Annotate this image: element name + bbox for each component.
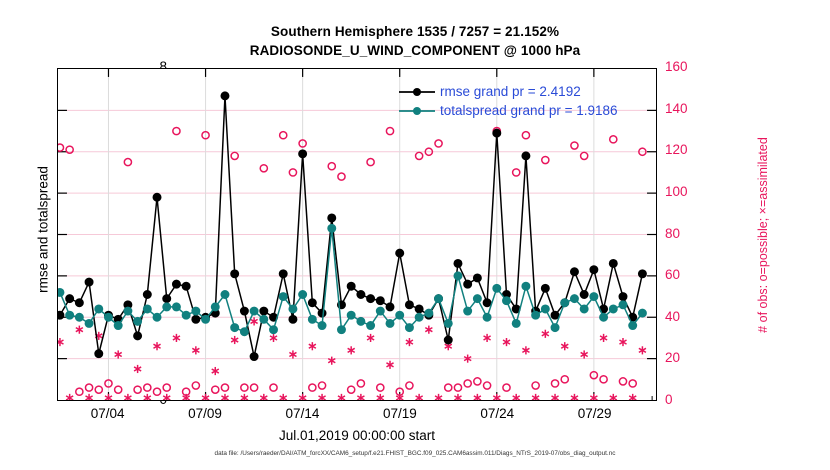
- y-tick-right-80: 80: [665, 227, 711, 241]
- page-title-line2: RADIOSONDE_U_WIND_COMPONENT @ 1000 hPa: [0, 43, 830, 58]
- legend: rmse grand pr = 2.4192totalspread grand …: [398, 82, 618, 120]
- y-tick-right-40: 40: [665, 310, 711, 324]
- y-tick-right-0: 0: [665, 393, 711, 407]
- y-tick-right-120: 120: [665, 143, 711, 157]
- x-tick-07-19: 07/19: [360, 406, 440, 421]
- x-tick-07-04: 07/04: [68, 406, 148, 421]
- y-axis-label-left: rmse and totalspread: [36, 125, 51, 335]
- legend-marker-icon: [398, 84, 436, 100]
- y-tick-right-160: 160: [665, 60, 711, 74]
- legend-marker-icon: [398, 103, 436, 119]
- x-tick-07-29: 07/29: [555, 406, 635, 421]
- x-axis-label: Jul.01,2019 00:00:00 start: [57, 428, 657, 443]
- x-tick-07-24: 07/24: [457, 406, 537, 421]
- legend-item-rmse: rmse grand pr = 2.4192: [398, 82, 618, 101]
- y-tick-right-60: 60: [665, 268, 711, 282]
- y-axis-label-right: # of obs: o=possible; ×=assimilated: [756, 115, 770, 355]
- page-title-line1: Southern Hemisphere 1535 / 7257 = 21.152…: [0, 24, 830, 39]
- x-tick-07-09: 07/09: [165, 406, 245, 421]
- legend-label: totalspread grand pr = 1.9186: [440, 103, 618, 118]
- footer-datafile: data file: /Users/raeder/DAI/ATM_forcXX/…: [0, 450, 830, 457]
- x-tick-07-14: 07/14: [262, 406, 342, 421]
- legend-item-totalspread: totalspread grand pr = 1.9186: [398, 101, 618, 120]
- y-tick-right-100: 100: [665, 185, 711, 199]
- legend-label: rmse grand pr = 2.4192: [440, 84, 581, 99]
- y-tick-right-20: 20: [665, 351, 711, 365]
- chart-page: Southern Hemisphere 1535 / 7257 = 21.152…: [0, 0, 830, 470]
- y-tick-right-140: 140: [665, 102, 711, 116]
